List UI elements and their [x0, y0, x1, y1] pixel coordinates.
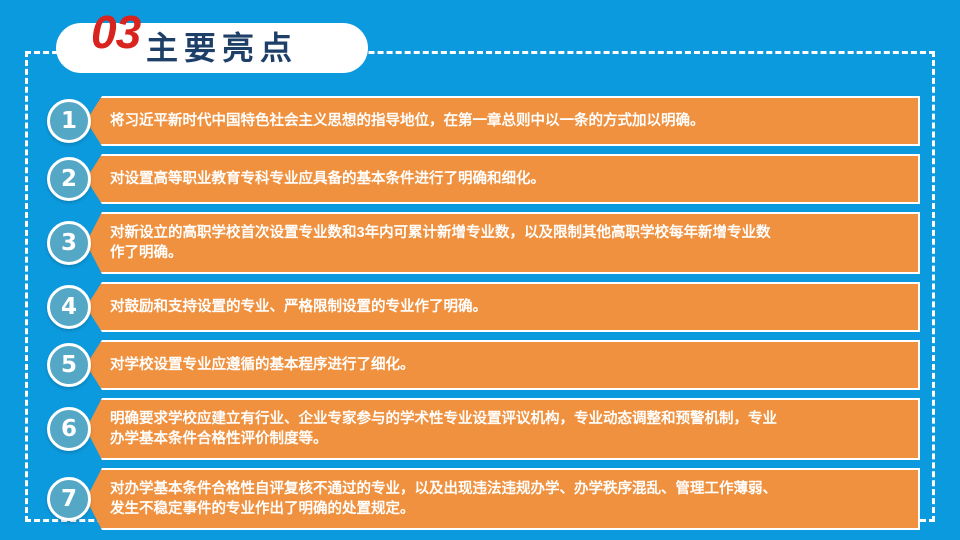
item-number-badge: 4: [47, 285, 91, 329]
highlight-bar: 将习近平新时代中国特色社会主义思想的指导地位，在第一章总则中以一条的方式加以明确…: [86, 96, 920, 146]
highlight-text: 对学校设置专业应遵循的基本程序进行了细化。: [88, 355, 425, 375]
highlight-bar: 对学校设置专业应遵循的基本程序进行了细化。: [86, 340, 920, 390]
highlight-list: 将习近平新时代中国特色社会主义思想的指导地位，在第一章总则中以一条的方式加以明确…: [0, 96, 960, 538]
item-number-label: 1: [61, 110, 77, 133]
highlight-text: 明确要求学校应建立有行业、企业专家参与的学术性专业设置评议机构，专业动态调整和预…: [88, 409, 787, 449]
item-number-label: 4: [61, 296, 77, 319]
highlight-bar: 对办学基本条件合格性自评复核不通过的专业，以及出现违法违规办学、办学秩序混乱、管…: [86, 468, 920, 530]
item-number-badge: 7: [47, 477, 91, 521]
highlight-text: 对新设立的高职学校首次设置专业数和3年内可累计新增专业数，以及限制其他高职学校每…: [88, 223, 781, 263]
list-item: 对设置高等职业教育专科专业应具备的基本条件进行了明确和细化。2: [0, 154, 960, 204]
item-number-badge: 6: [47, 407, 91, 451]
item-number-label: 3: [61, 232, 77, 255]
page-title: 主要亮点: [146, 24, 298, 72]
item-number-badge: 5: [47, 343, 91, 387]
highlight-text: 对设置高等职业教育专科专业应具备的基本条件进行了明确和细化。: [88, 169, 555, 189]
section-number: 03: [91, 9, 140, 55]
item-number-label: 5: [61, 354, 77, 377]
item-number-badge: 3: [47, 221, 91, 265]
list-item: 对学校设置专业应遵循的基本程序进行了细化。5: [0, 340, 960, 390]
slide-canvas: 主要亮点 03 将习近平新时代中国特色社会主义思想的指导地位，在第一章总则中以一…: [0, 0, 960, 540]
item-number-label: 7: [61, 488, 77, 511]
highlight-bar: 明确要求学校应建立有行业、企业专家参与的学术性专业设置评议机构，专业动态调整和预…: [86, 398, 920, 460]
highlight-bar: 对鼓励和支持设置的专业、严格限制设置的专业作了明确。: [86, 282, 920, 332]
highlight-bar: 对设置高等职业教育专科专业应具备的基本条件进行了明确和细化。: [86, 154, 920, 204]
item-number-badge: 1: [47, 99, 91, 143]
item-number-label: 2: [61, 168, 77, 191]
item-number-label: 6: [61, 418, 77, 441]
list-item: 对新设立的高职学校首次设置专业数和3年内可累计新增专业数，以及限制其他高职学校每…: [0, 212, 960, 274]
item-number-badge: 2: [47, 157, 91, 201]
highlight-text: 将习近平新时代中国特色社会主义思想的指导地位，在第一章总则中以一条的方式加以明确…: [88, 111, 715, 131]
list-item: 对办学基本条件合格性自评复核不通过的专业，以及出现违法违规办学、办学秩序混乱、管…: [0, 468, 960, 530]
list-item: 明确要求学校应建立有行业、企业专家参与的学术性专业设置评议机构，专业动态调整和预…: [0, 398, 960, 460]
list-item: 对鼓励和支持设置的专业、严格限制设置的专业作了明确。4: [0, 282, 960, 332]
highlight-bar: 对新设立的高职学校首次设置专业数和3年内可累计新增专业数，以及限制其他高职学校每…: [86, 212, 920, 274]
highlight-text: 对鼓励和支持设置的专业、严格限制设置的专业作了明确。: [88, 297, 497, 317]
list-item: 将习近平新时代中国特色社会主义思想的指导地位，在第一章总则中以一条的方式加以明确…: [0, 96, 960, 146]
highlight-text: 对办学基本条件合格性自评复核不通过的专业，以及出现违法违规办学、办学秩序混乱、管…: [88, 479, 787, 519]
